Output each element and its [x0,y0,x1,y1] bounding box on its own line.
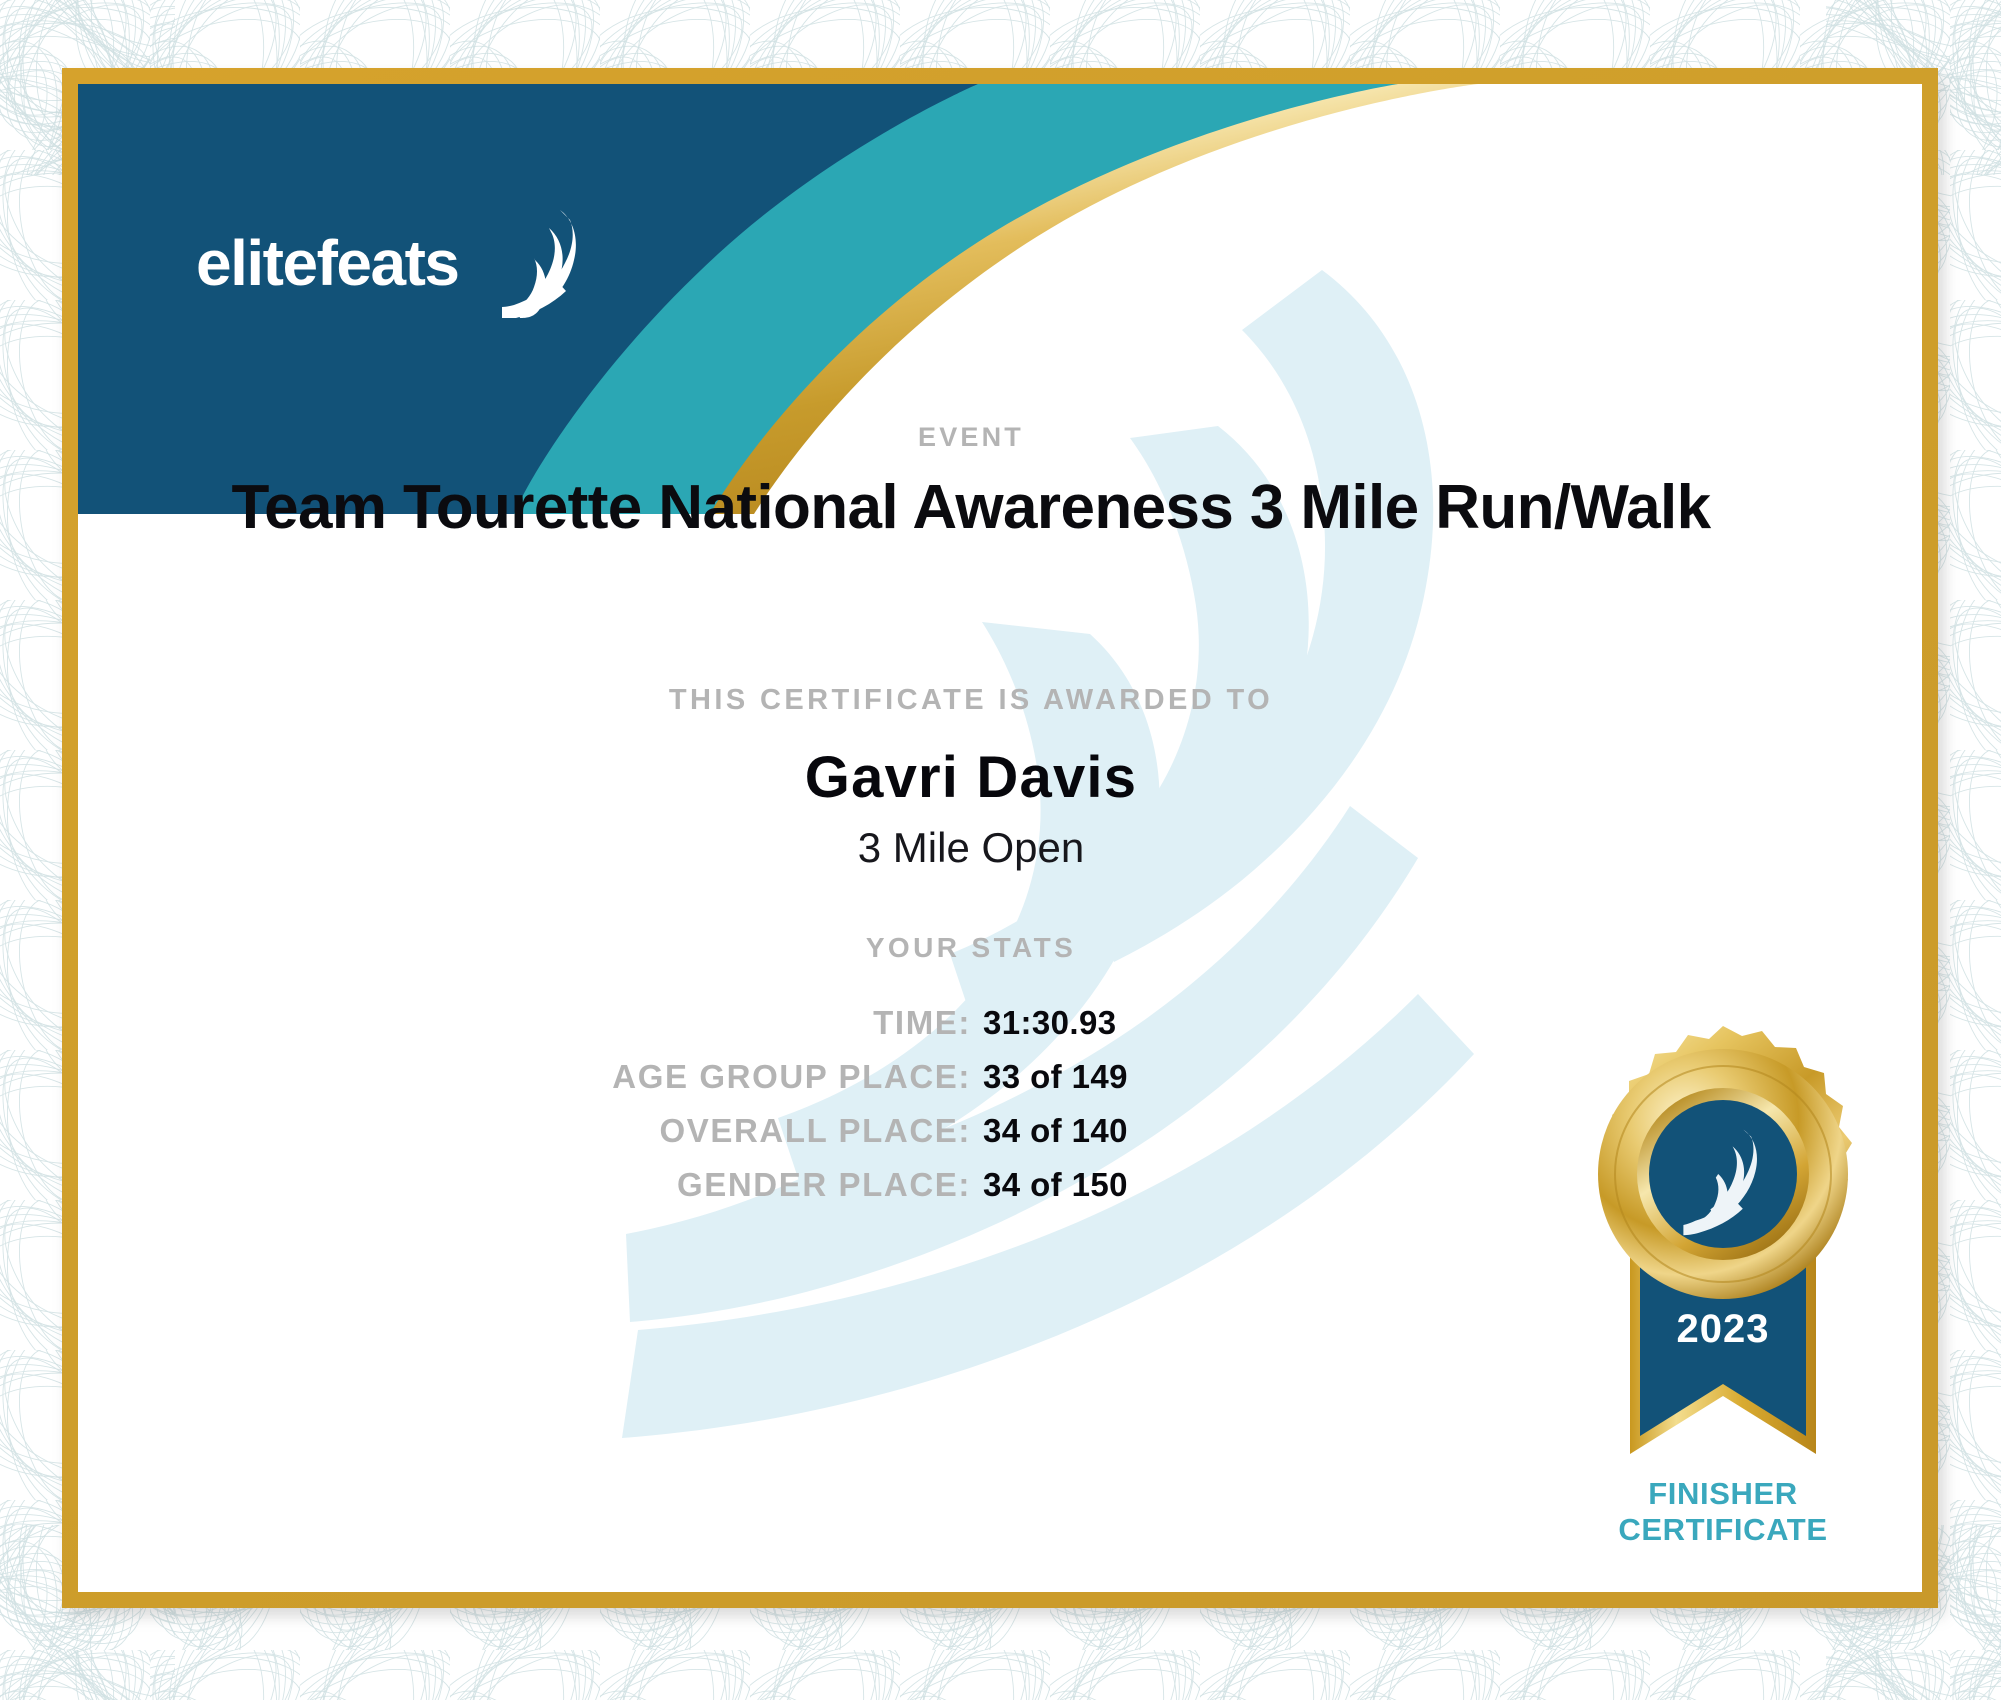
event-title: Team Tourette National Awareness 3 Mile … [78,472,1864,543]
stat-value: 34 of 140 [971,1112,1411,1150]
gold-border-frame: elitefeats EVENT Team Tourette National … [62,68,1938,1608]
certificate-paper: elitefeats EVENT Team Tourette National … [78,84,1922,1592]
stat-label: AGE GROUP PLACE: [531,1058,971,1096]
seal-caption: FINISHER CERTIFICATE [1533,1476,1913,1548]
logo-wordmark: elitefeats [196,226,458,300]
seal-caption-line2: CERTIFICATE [1533,1512,1913,1548]
winged-foot-icon [502,208,586,318]
stat-value: 31:30.93 [971,1004,1411,1042]
elitefeats-logo: elitefeats [196,222,576,312]
recipient-name: Gavri Davis [78,744,1864,811]
stat-value: 34 of 150 [971,1166,1411,1204]
seal-caption-line1: FINISHER [1533,1476,1913,1512]
stat-label: TIME: [531,1004,971,1042]
finisher-medal-seal: 2023 [1558,1024,1888,1464]
stat-label: GENDER PLACE: [531,1166,971,1204]
certificate-page: elitefeats EVENT Team Tourette National … [0,0,2001,1700]
division-name: 3 Mile Open [78,824,1864,872]
stat-value: 33 of 149 [971,1058,1411,1096]
event-label: EVENT [78,422,1864,453]
stat-label: OVERALL PLACE: [531,1112,971,1150]
awarded-to-label: THIS CERTIFICATE IS AWARDED TO [78,684,1864,717]
seal-year: 2023 [1677,1307,1770,1351]
your-stats-label: YOUR STATS [78,932,1864,964]
